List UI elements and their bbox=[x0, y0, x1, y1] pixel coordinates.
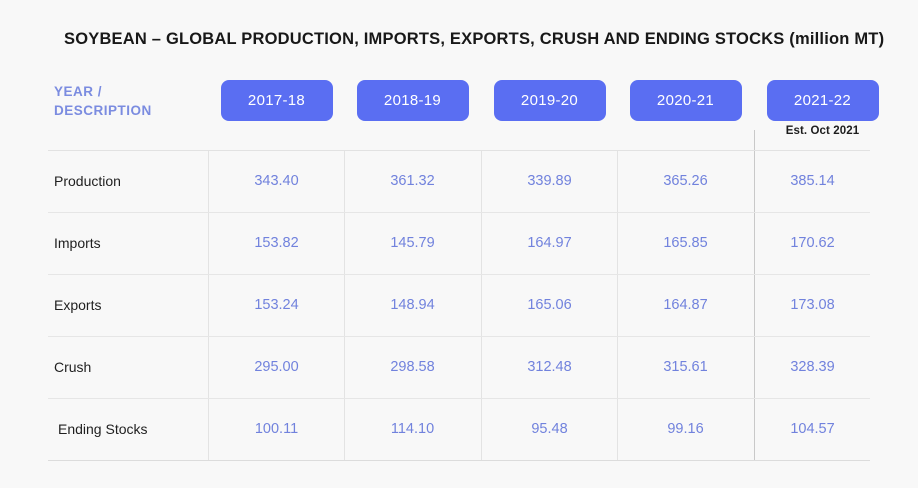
header-note-spacer-1 bbox=[344, 121, 481, 138]
cell-exports-2019-20: 165.06 bbox=[481, 275, 617, 336]
cell-production-2020-21: 365.26 bbox=[617, 151, 753, 212]
year-badge-2020-21[interactable]: 2020-21 bbox=[630, 80, 742, 121]
row-label-production: Production bbox=[54, 151, 204, 212]
table-header-row: YEAR / DESCRIPTION 2017-18 2018-19 2019-… bbox=[48, 72, 870, 150]
table-row: Exports 153.24 148.94 165.06 164.87 173.… bbox=[48, 275, 870, 337]
cell-ending-stocks-2018-19: 114.10 bbox=[344, 399, 480, 460]
header-column-2017-18: 2017-18 bbox=[208, 80, 345, 138]
cell-crush-2018-19: 298.58 bbox=[344, 337, 480, 398]
row-values-ending-stocks: 100.11 114.10 95.48 99.16 104.57 bbox=[208, 399, 870, 460]
header-badges: 2017-18 2018-19 2019-20 2020-21 2021-22 bbox=[208, 80, 870, 150]
table-row: Crush 295.00 298.58 312.48 315.61 328.39 bbox=[48, 337, 870, 399]
page-root: SOYBEAN – GLOBAL PRODUCTION, IMPORTS, EX… bbox=[0, 0, 918, 488]
data-table: YEAR / DESCRIPTION 2017-18 2018-19 2019-… bbox=[48, 72, 870, 461]
header-note-spacer-2 bbox=[481, 121, 618, 138]
estimate-note: Est. Oct 2021 bbox=[754, 125, 891, 137]
cell-crush-2017-18: 295.00 bbox=[208, 337, 344, 398]
row-label-exports: Exports bbox=[54, 275, 204, 336]
header-column-2018-19: 2018-19 bbox=[344, 80, 481, 138]
table-row: Production 343.40 361.32 339.89 365.26 3… bbox=[48, 151, 870, 213]
header-row-label: YEAR / DESCRIPTION bbox=[54, 82, 204, 120]
cell-production-2021-22: 385.14 bbox=[754, 151, 870, 212]
row-values-exports: 153.24 148.94 165.06 164.87 173.08 bbox=[208, 275, 870, 336]
year-badge-2021-22[interactable]: 2021-22 bbox=[767, 80, 879, 121]
row-label-imports: Imports bbox=[54, 213, 204, 274]
row-label-ending-stocks: Ending Stocks bbox=[58, 399, 208, 460]
cell-crush-2019-20: 312.48 bbox=[481, 337, 617, 398]
header-column-2021-22: 2021-22 Est. Oct 2021 bbox=[754, 80, 891, 137]
cell-imports-2021-22: 170.62 bbox=[754, 213, 870, 274]
cell-exports-2018-19: 148.94 bbox=[344, 275, 480, 336]
cell-imports-2017-18: 153.82 bbox=[208, 213, 344, 274]
year-badge-2018-19[interactable]: 2018-19 bbox=[357, 80, 469, 121]
cell-exports-2021-22: 173.08 bbox=[754, 275, 870, 336]
cell-exports-2017-18: 153.24 bbox=[208, 275, 344, 336]
table-body: Production 343.40 361.32 339.89 365.26 3… bbox=[48, 150, 870, 461]
header-column-2019-20: 2019-20 bbox=[481, 80, 618, 138]
cell-crush-2020-21: 315.61 bbox=[617, 337, 753, 398]
cell-ending-stocks-2019-20: 95.48 bbox=[481, 399, 617, 460]
cell-crush-2021-22: 328.39 bbox=[754, 337, 870, 398]
year-badge-2017-18[interactable]: 2017-18 bbox=[221, 80, 333, 121]
cell-ending-stocks-2017-18: 100.11 bbox=[208, 399, 344, 460]
header-note-spacer-3 bbox=[617, 121, 754, 138]
header-row-label-line2: DESCRIPTION bbox=[54, 101, 204, 120]
table-row: Imports 153.82 145.79 164.97 165.85 170.… bbox=[48, 213, 870, 275]
row-values-imports: 153.82 145.79 164.97 165.85 170.62 bbox=[208, 213, 870, 274]
cell-production-2017-18: 343.40 bbox=[208, 151, 344, 212]
cell-imports-2020-21: 165.85 bbox=[617, 213, 753, 274]
cell-imports-2019-20: 164.97 bbox=[481, 213, 617, 274]
cell-production-2019-20: 339.89 bbox=[481, 151, 617, 212]
cell-ending-stocks-2020-21: 99.16 bbox=[617, 399, 753, 460]
row-values-production: 343.40 361.32 339.89 365.26 385.14 bbox=[208, 151, 870, 212]
header-column-2020-21: 2020-21 bbox=[617, 80, 754, 138]
page-title: SOYBEAN – GLOBAL PRODUCTION, IMPORTS, EX… bbox=[64, 30, 884, 49]
header-note-spacer-0 bbox=[208, 121, 345, 138]
header-row-label-line1: YEAR / bbox=[54, 84, 102, 99]
header-column-divider bbox=[754, 130, 755, 150]
cell-production-2018-19: 361.32 bbox=[344, 151, 480, 212]
cell-ending-stocks-2021-22: 104.57 bbox=[754, 399, 870, 460]
year-badge-2019-20[interactable]: 2019-20 bbox=[494, 80, 606, 121]
cell-imports-2018-19: 145.79 bbox=[344, 213, 480, 274]
row-label-crush: Crush bbox=[54, 337, 204, 398]
table-row: Ending Stocks 100.11 114.10 95.48 99.16 … bbox=[48, 399, 870, 461]
cell-exports-2020-21: 164.87 bbox=[617, 275, 753, 336]
row-values-crush: 295.00 298.58 312.48 315.61 328.39 bbox=[208, 337, 870, 398]
